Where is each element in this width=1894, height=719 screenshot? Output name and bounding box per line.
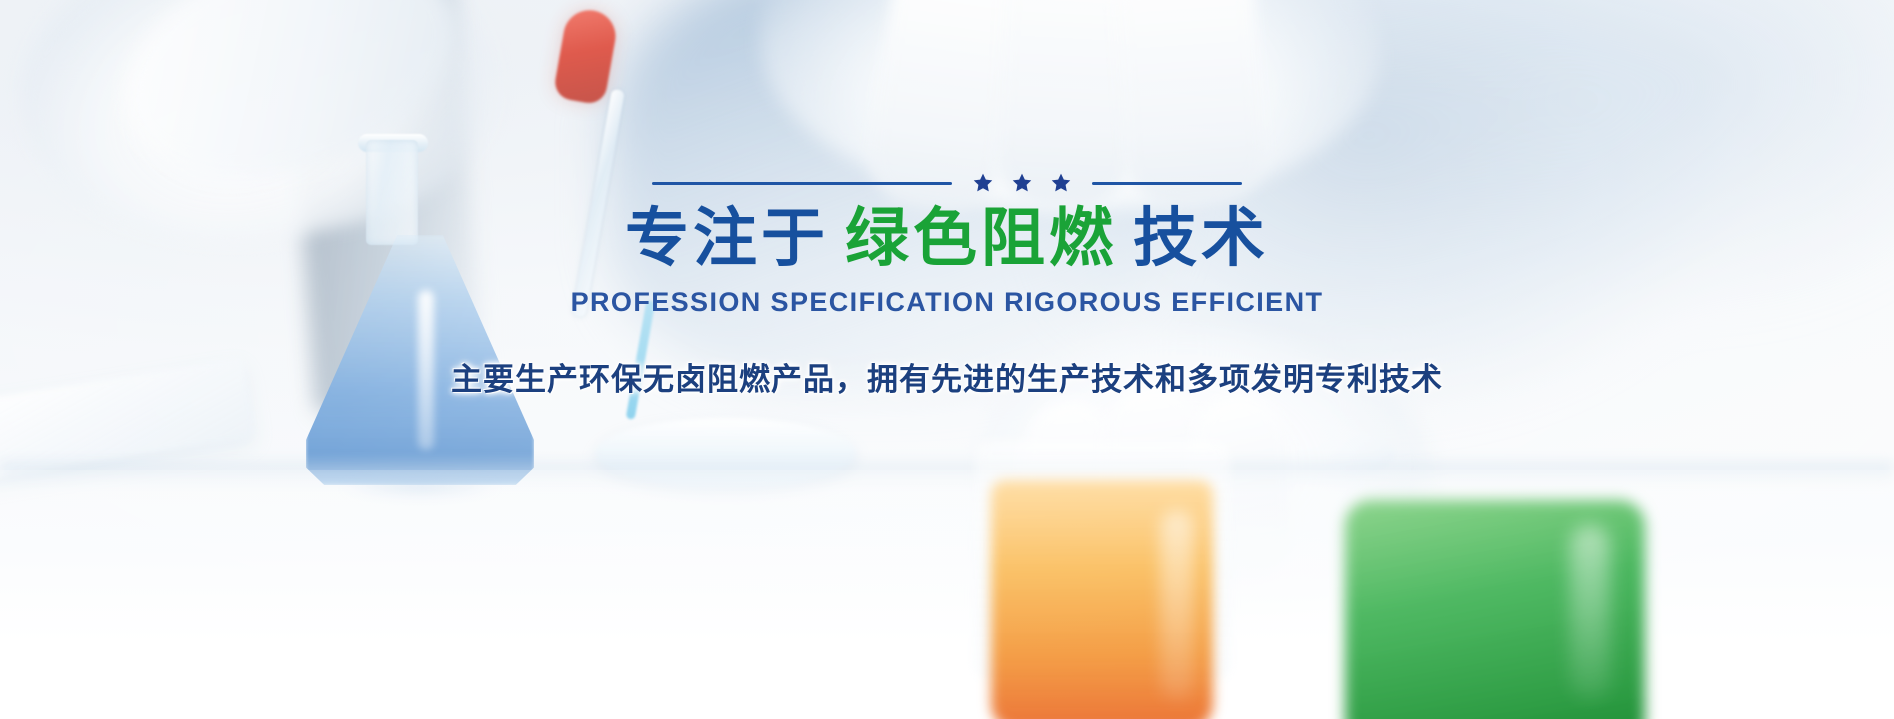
flask-highlight	[418, 290, 434, 450]
flask-orange-highlight	[1160, 510, 1194, 700]
hero-banner: 专注于绿色阻燃技术 PROFESSION SPECIFICATION RIGOR…	[0, 0, 1894, 719]
flask-green	[1345, 500, 1645, 719]
erlenmeyer-flask-blue	[300, 140, 540, 500]
flask-neck	[366, 140, 418, 245]
glove-finger-3	[1111, 0, 1268, 210]
flask-orange	[975, 440, 1230, 719]
flask-green-highlight	[1570, 525, 1610, 700]
